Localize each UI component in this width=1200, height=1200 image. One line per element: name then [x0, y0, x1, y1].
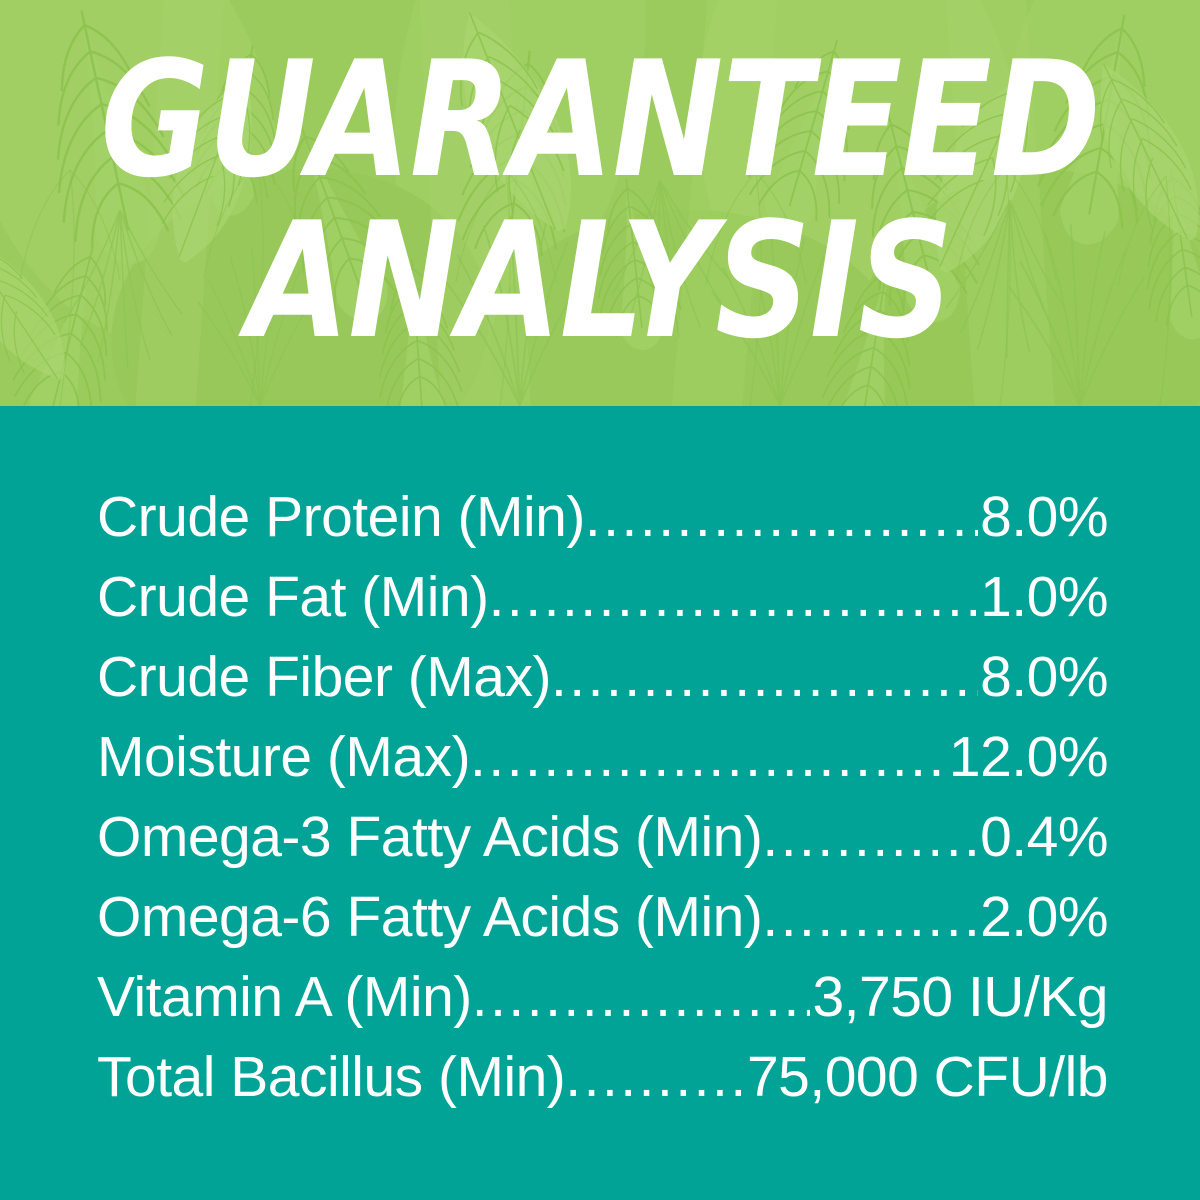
analysis-value: 8.0% — [980, 484, 1108, 550]
title-line-guaranteed: GUARANTEED — [100, 46, 1099, 193]
analysis-label: Vitamin A (Min) — [97, 964, 472, 1030]
analysis-value: 2.0% — [980, 884, 1108, 950]
analysis-label: Crude Fiber (Max) — [97, 644, 551, 710]
analysis-row: Crude Fat (Min) ........................… — [97, 564, 1108, 644]
dot-leader: ........................................… — [472, 964, 811, 1030]
dot-leader: ........................................… — [489, 564, 978, 630]
analysis-value: 3,750 IU/Kg — [812, 964, 1108, 1030]
dot-leader: ........................................… — [470, 724, 947, 790]
analysis-list: Crude Protein (Min) ....................… — [97, 484, 1108, 1124]
analysis-label: Total Bacillus (Min) — [97, 1044, 565, 1110]
analysis-label: Omega-3 Fatty Acids (Min) — [97, 804, 762, 870]
analysis-value: 75,000 CFU/lb — [747, 1044, 1108, 1110]
analysis-value: 12.0% — [949, 724, 1108, 790]
analysis-row: Crude Protein (Min) ....................… — [97, 484, 1108, 564]
analysis-value: 8.0% — [980, 644, 1108, 710]
analysis-label: Crude Protein (Min) — [97, 484, 585, 550]
dot-leader: ........................................… — [762, 884, 978, 950]
analysis-row: Omega-6 Fatty Acids (Min) ..............… — [97, 884, 1108, 964]
analysis-label: Moisture (Max) — [97, 724, 470, 790]
analysis-value: 0.4% — [980, 804, 1108, 870]
dot-leader: ........................................… — [762, 804, 978, 870]
guaranteed-analysis-panel: GUARANTEED ANALYSIS Crude Protein (Min) … — [0, 0, 1200, 1200]
title-line-analysis: ANALYSIS — [247, 207, 953, 354]
dot-leader: ........................................… — [565, 1044, 745, 1110]
header-band: GUARANTEED ANALYSIS — [0, 0, 1200, 406]
analysis-label: Omega-6 Fatty Acids (Min) — [97, 884, 762, 950]
analysis-row: Crude Fiber (Max) ......................… — [97, 644, 1108, 724]
analysis-value: 1.0% — [980, 564, 1108, 630]
dot-leader: ........................................… — [585, 484, 978, 550]
analysis-label: Crude Fat (Min) — [97, 564, 489, 630]
analysis-row: Vitamin A (Min) ........................… — [97, 964, 1108, 1044]
analysis-row: Omega-3 Fatty Acids (Min) ..............… — [97, 804, 1108, 884]
page-title: GUARANTEED ANALYSIS — [0, 0, 1200, 406]
analysis-row: Total Bacillus (Min) ...................… — [97, 1044, 1108, 1124]
dot-leader: ........................................… — [551, 644, 978, 710]
analysis-row: Moisture (Max) .........................… — [97, 724, 1108, 804]
